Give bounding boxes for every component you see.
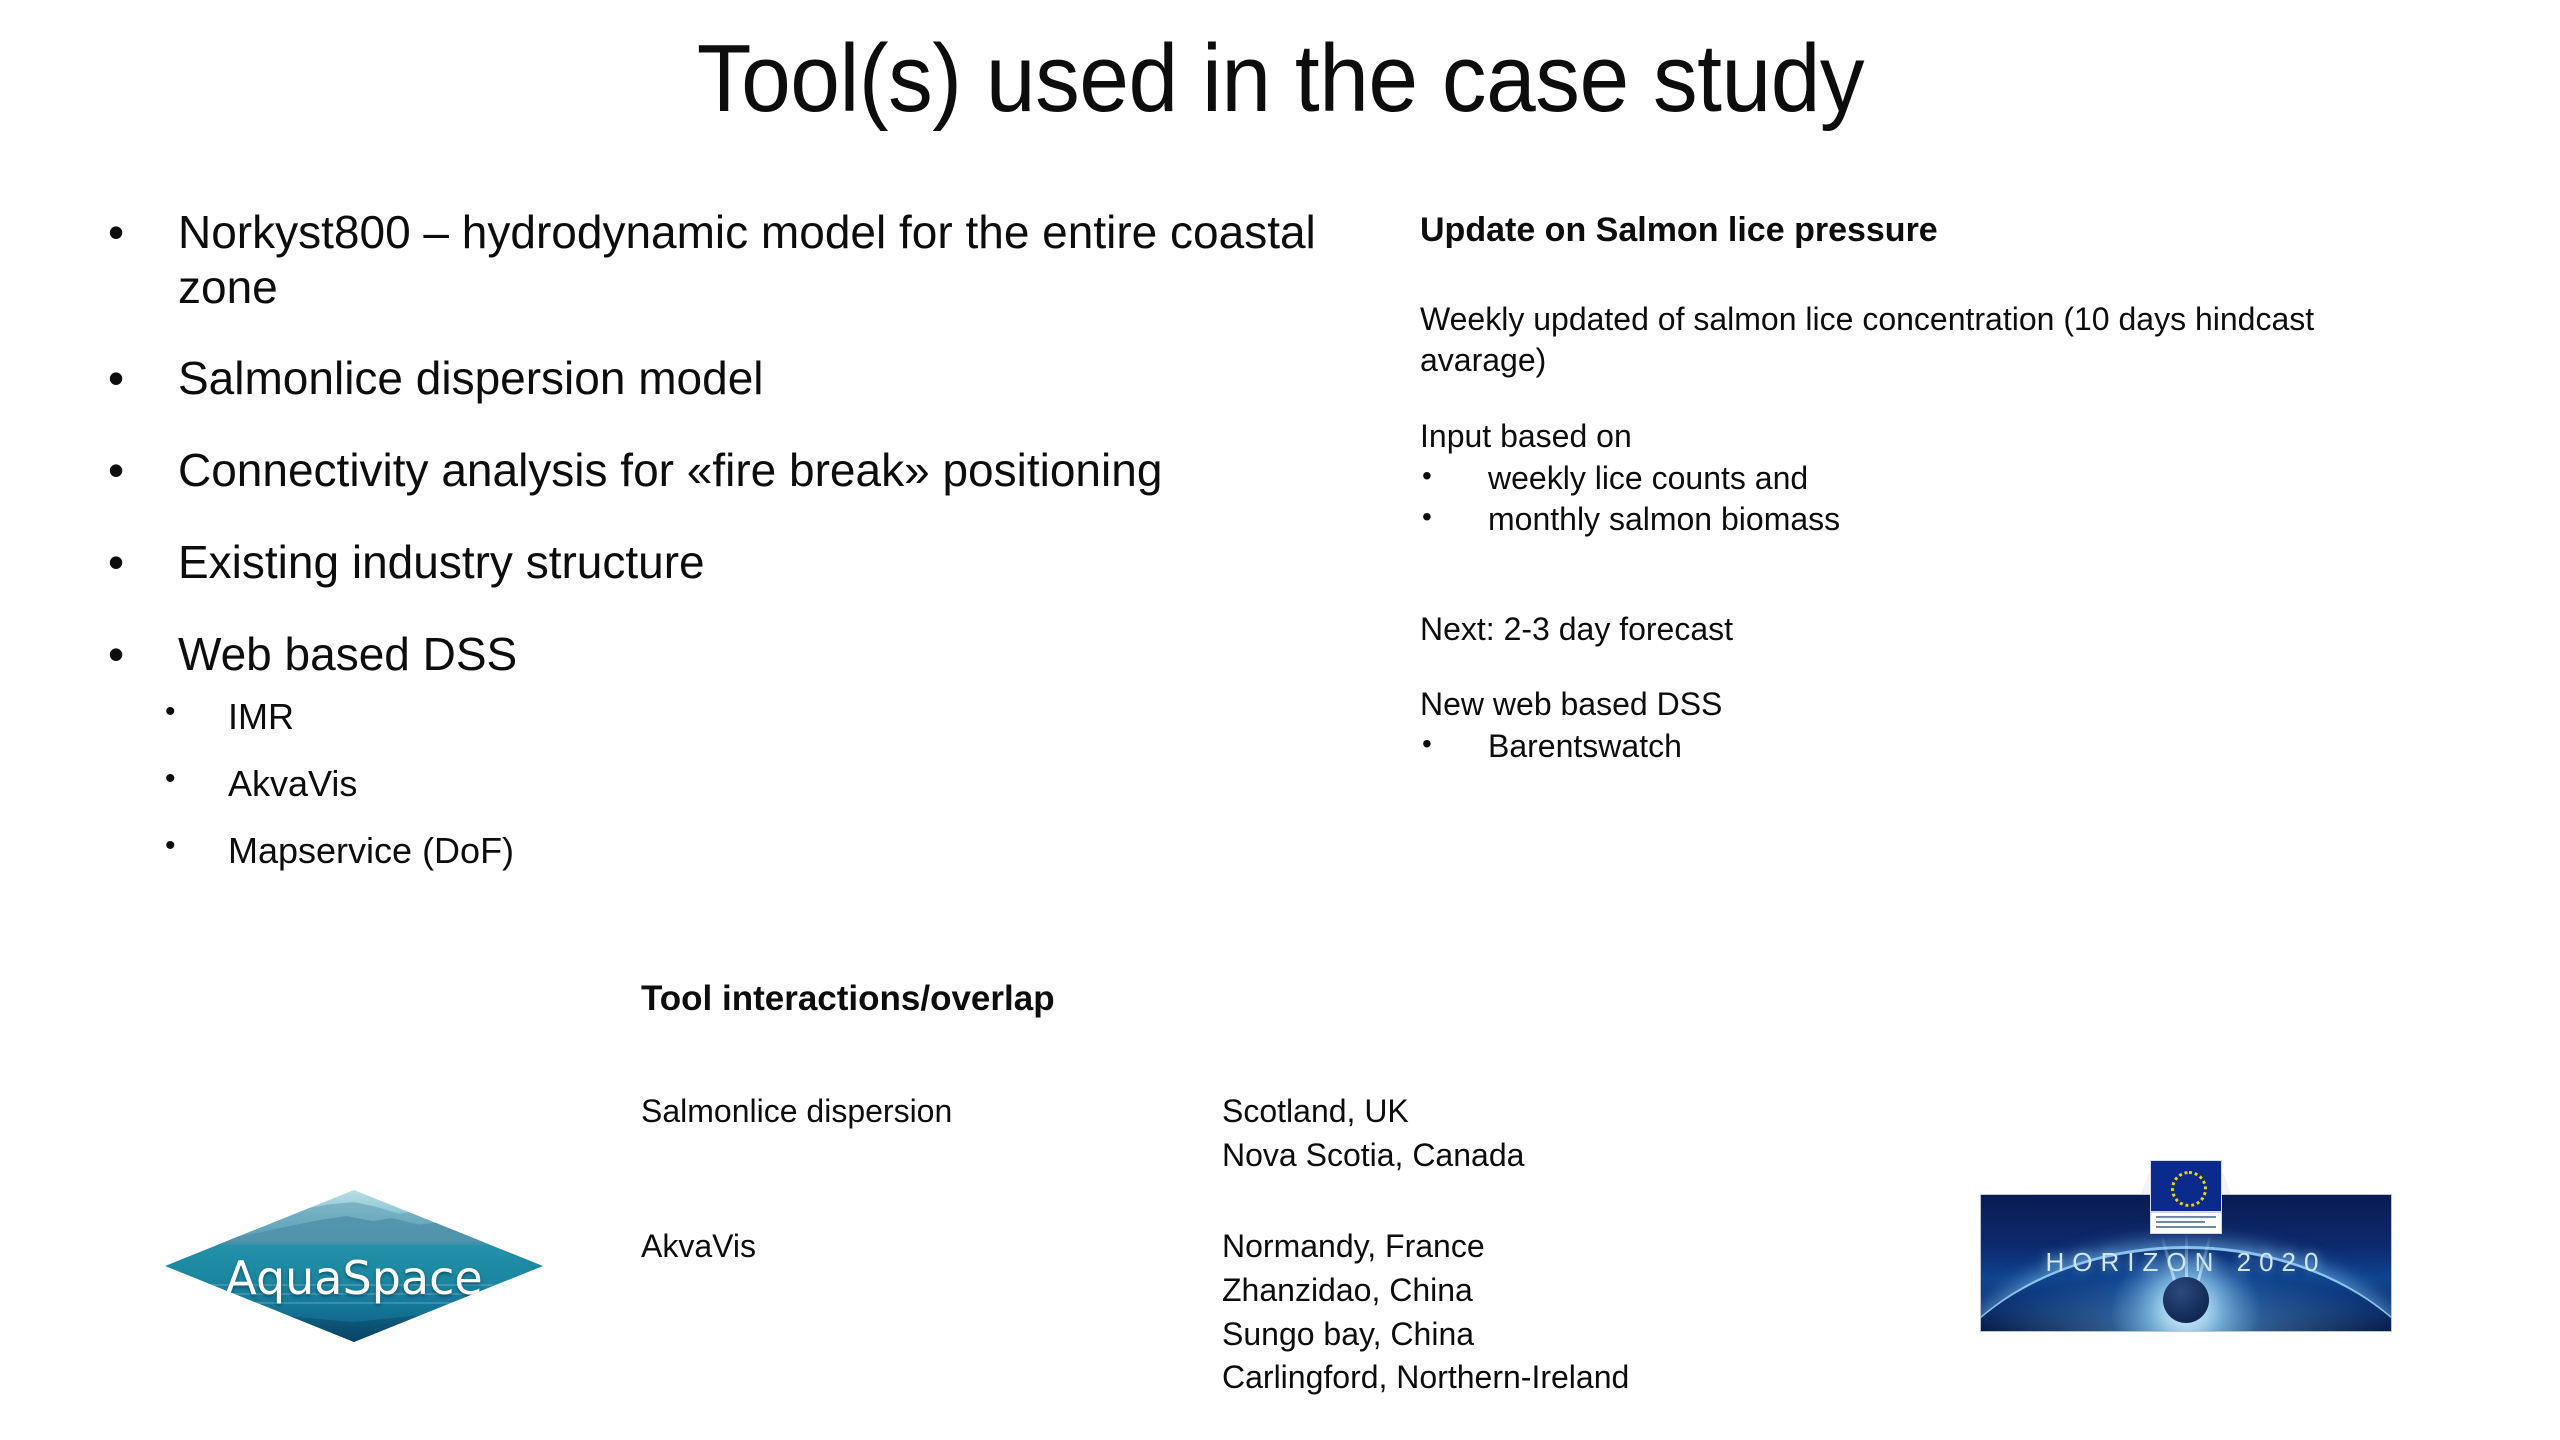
right-column-heading: Update on Salmon lice pressure [1420,210,2430,251]
new-dss-label: New web based DSS [1420,684,2430,726]
list-item: • Connectivity analysis for «fire break»… [100,443,1350,498]
next-forecast-line: Next: 2-3 day forecast [1420,609,2430,651]
place-item: Nova Scotia, Canada [1222,1134,1524,1178]
list-item: • Norkyst800 – hydrodynamic model for th… [100,205,1350,314]
tool-name-salmonlice-dispersion: Salmonlice dispersion [641,1090,952,1134]
sub-bullet-list: • IMR • AkvaVis • Mapservice (DoF) [100,695,1350,873]
list-item-label: AkvaVis [228,763,357,804]
place-item: Scotland, UK [1222,1090,1524,1134]
bullet-glyph-icon: • [165,761,176,798]
eu-stars-icon [2171,1171,2207,1207]
list-item: • Mapservice (DoF) [155,829,1350,873]
list-item: • IMR [155,695,1350,739]
horizon2020-wordmark: HORIZON 2020 [1981,1249,2391,1275]
list-item-label: Connectivity analysis for «fire break» p… [178,443,1350,498]
bullet-glyph-icon: • [165,694,176,731]
horizon2020-logo: HORIZON 2020 [1980,1160,2392,1332]
caption-line [2156,1216,2216,1218]
list-item-label: Web based DSS [178,627,1350,682]
tool-name-akvavis: AkvaVis [641,1225,756,1269]
list-item-label: Salmonlice dispersion model [178,351,1350,406]
spacer [1420,650,2430,684]
eu-flag-icon [2150,1160,2222,1212]
tool-places-salmonlice-dispersion: Scotland, UK Nova Scotia, Canada [1222,1090,1524,1178]
bullet-glyph-icon: • [108,535,124,590]
list-item-label: weekly lice counts and [1488,460,1808,496]
bullet-glyph-icon: • [108,627,124,682]
bullet-glyph-icon: • [108,443,124,498]
caption-line [2156,1221,2205,1223]
slide-canvas: Tool(s) used in the case study • Norkyst… [0,0,2560,1440]
list-item: • Salmonlice dispersion model [100,351,1350,406]
list-item-label: Mapservice (DoF) [228,830,514,871]
aquaspace-logo: AquaSpace [165,1190,543,1342]
right-text-block: Update on Salmon lice pressure Weekly up… [1420,210,2430,768]
list-item-label: Barentswatch [1488,728,1682,764]
left-bullet-list: • Norkyst800 – hydrodynamic model for th… [100,205,1350,896]
list-item-label: IMR [228,696,294,737]
right-column-paragraph: Weekly updated of salmon lice concentrat… [1420,299,2430,382]
list-item: • Barentswatch [1420,726,2430,768]
list-item-label: Existing industry structure [178,535,1350,590]
bullet-glyph-icon: • [1422,499,1432,535]
list-item-label: monthly salmon biomass [1488,501,1840,537]
list-item: • Web based DSS [100,627,1350,682]
bullet-glyph-icon: • [1422,726,1432,762]
bottom-section-heading: Tool interactions/overlap [641,978,1055,1020]
spacer [1420,541,2430,609]
page-title-text: Tool(s) used in the case study [696,26,1863,132]
place-item: Sungo bay, China [1222,1313,1629,1357]
page-title: Tool(s) used in the case study [0,26,2560,132]
spacer [1420,382,2430,416]
place-item: Normandy, France [1222,1225,1629,1269]
list-item: • monthly salmon biomass [1420,499,2430,541]
bullet-glyph-icon: • [108,351,124,406]
list-item: • Existing industry structure [100,535,1350,590]
aquaspace-wordmark: AquaSpace [165,1255,543,1301]
list-item-label: Norkyst800 – hydrodynamic model for the … [178,205,1350,314]
bullet-glyph-icon: • [1422,458,1432,494]
bullet-glyph-icon: • [108,205,124,260]
bullet-glyph-icon: • [165,828,176,865]
place-item: Zhanzidao, China [1222,1269,1629,1313]
aquaspace-diamond-icon: AquaSpace [165,1190,543,1342]
globe-icon [2163,1277,2209,1323]
list-item: • AkvaVis [155,762,1350,806]
tool-places-akvavis: Normandy, France Zhanzidao, China Sungo … [1222,1225,1629,1400]
eu-emblem-caption [2150,1212,2222,1234]
input-based-on-label: Input based on [1420,416,2430,458]
caption-line [2156,1226,2216,1228]
place-item: Carlingford, Northern-Ireland [1222,1356,1629,1400]
list-item: • weekly lice counts and [1420,458,2430,500]
